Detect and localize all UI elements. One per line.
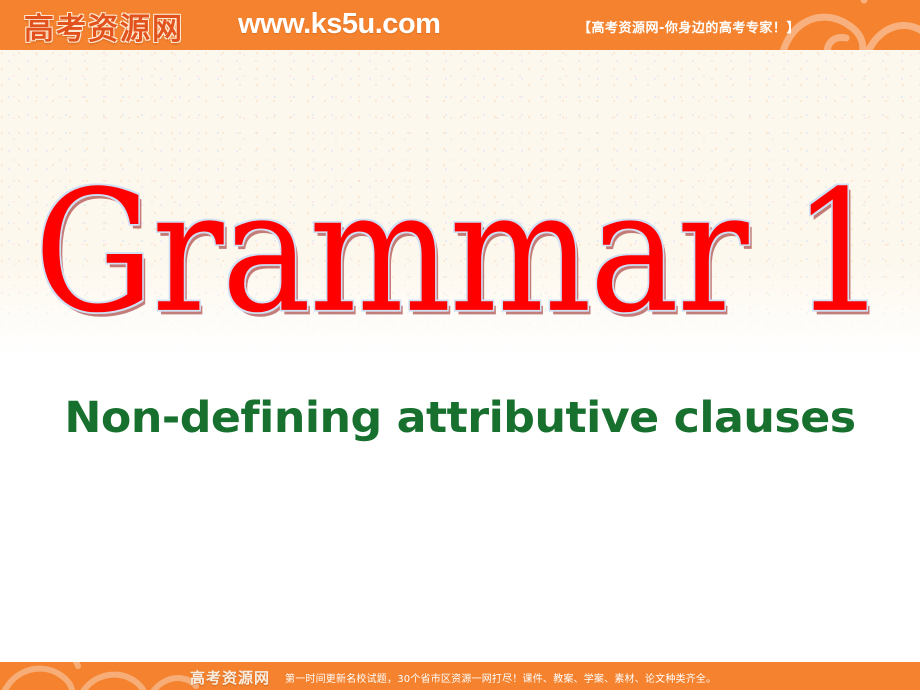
- page-subtitle: Non-defining attributive clauses: [0, 392, 920, 444]
- footer-note-text: 第一时间更新名校试题，30个省市区资源一网打尽！课件、教案、学案、素材、论文种类…: [285, 670, 716, 685]
- footer-banner: 高考资源网 第一时间更新名校试题，30个省市区资源一网打尽！课件、教案、学案、素…: [0, 662, 920, 690]
- presentation-slide: 高考资源网 www.ks5u.com 【高考资源网-你身边的高考专家！】 Gra…: [0, 0, 920, 690]
- page-title: Grammar 1: [0, 152, 920, 354]
- footer-logo-text: 高考资源网: [190, 667, 270, 688]
- site-logo-text: 高考资源网: [24, 4, 184, 48]
- site-tagline-text: 【高考资源网-你身边的高考专家！】: [578, 17, 800, 36]
- header-banner: 高考资源网 www.ks5u.com 【高考资源网-你身边的高考专家！】: [0, 0, 920, 50]
- swirl-ornament-icon: [0, 662, 200, 690]
- site-url-text: www.ks5u.com: [238, 8, 440, 41]
